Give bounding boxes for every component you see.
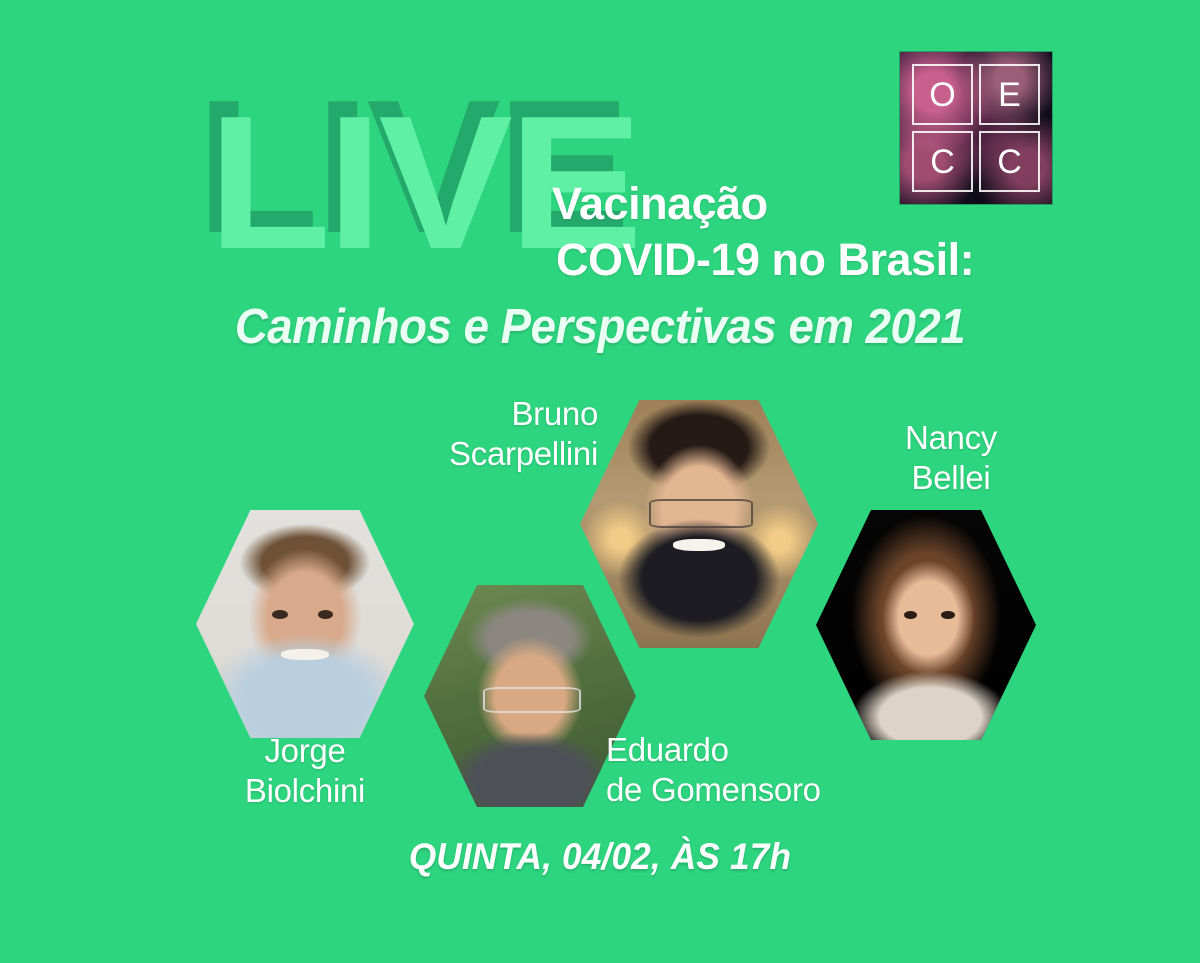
speaker-portrait-bruno (580, 400, 818, 648)
speaker-portrait-nancy (816, 510, 1036, 740)
oecc-logo-letter-c2: C (979, 131, 1040, 192)
portrait-detail (673, 539, 725, 551)
live-badge: LIVE LIVE (196, 72, 556, 282)
oecc-logo-grid: O E C C (912, 64, 1040, 192)
speaker-name-nancy: Nancy Bellei (846, 418, 1056, 498)
event-subtitle: Caminhos e Perspectivas em 2021 (42, 298, 1158, 356)
oecc-logo-letter-e: E (979, 64, 1040, 125)
heading-line-2: COVID-19 no Brasil: (552, 232, 1072, 288)
speaker-name-bruno: Bruno Scarpellini (398, 394, 598, 474)
portrait-detail (941, 611, 954, 619)
oecc-logo-letter-c1: C (912, 131, 973, 192)
speaker-name-jorge: Jorge Biolchini (200, 731, 410, 811)
portrait-detail (281, 649, 329, 660)
event-date-time: QUINTA, 04/02, ÀS 17h (30, 834, 1170, 880)
speaker-name-eduardo: Eduardo de Gomensoro (606, 730, 866, 810)
portrait-image-jorge (196, 510, 414, 738)
portrait-detail (483, 687, 580, 713)
portrait-image-nancy (816, 510, 1036, 740)
oecc-logo-letter-o: O (912, 64, 973, 125)
speaker-portrait-eduardo (424, 585, 636, 807)
live-event-poster: LIVE LIVE Vacinação COVID-19 no Brasil: … (0, 0, 1200, 963)
portrait-detail (649, 499, 753, 528)
speaker-portrait-jorge (196, 510, 414, 738)
oecc-logo: O E C C (900, 52, 1052, 204)
